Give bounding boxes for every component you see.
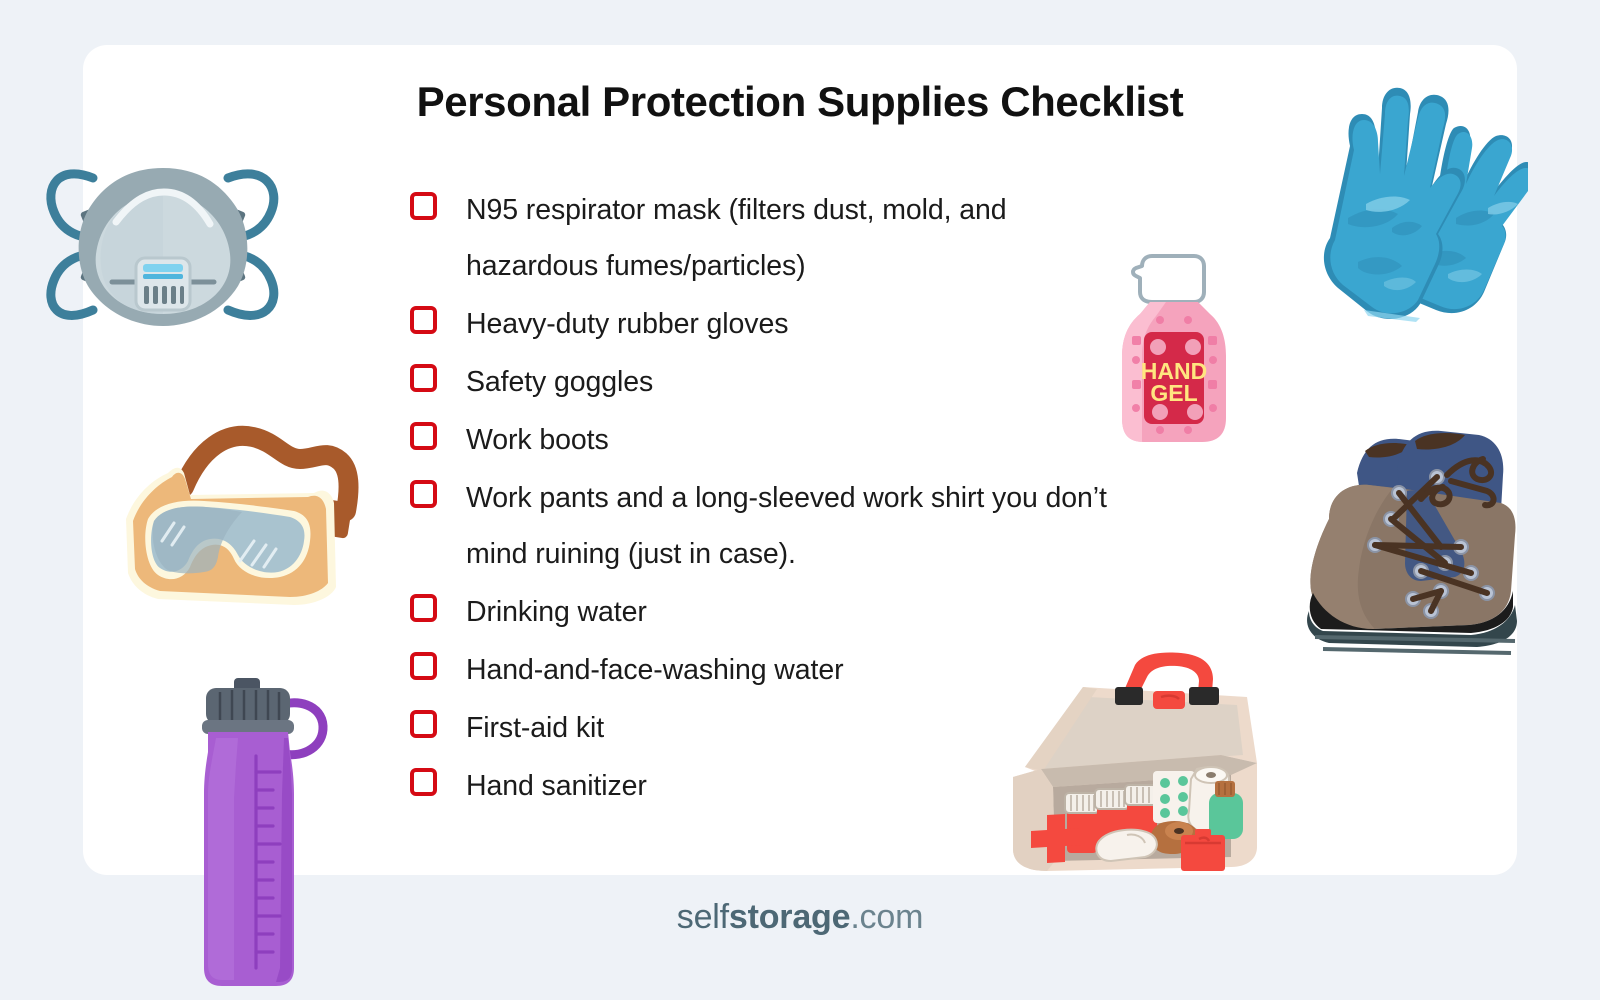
list-item[interactable]: Work pants and a long-sleeved work shirt… xyxy=(410,470,1130,582)
list-item-label: Drinking water xyxy=(466,584,647,640)
logo-part-storage: storage xyxy=(729,898,850,936)
logo-part-dotcom: .com xyxy=(850,898,923,936)
selfstorage-logo[interactable]: selfstorage.com xyxy=(0,898,1600,937)
checkbox-icon[interactable] xyxy=(410,480,437,508)
checkbox-icon[interactable] xyxy=(410,192,437,220)
checkbox-icon[interactable] xyxy=(410,422,437,450)
list-item[interactable]: Heavy-duty rubber gloves xyxy=(410,296,1130,352)
list-item-label: N95 respirator mask (filters dust, mold,… xyxy=(466,182,1130,294)
checkbox-icon[interactable] xyxy=(410,594,437,622)
infographic-page: Personal Protection Supplies Checklist N… xyxy=(0,0,1600,1000)
work-boot-illustration xyxy=(1265,415,1530,660)
list-item[interactable]: Drinking water xyxy=(410,584,1130,640)
water-bottle-illustration xyxy=(180,668,330,988)
checkbox-icon[interactable] xyxy=(410,652,437,680)
list-item[interactable]: N95 respirator mask (filters dust, mold,… xyxy=(410,182,1130,294)
safety-goggles-illustration xyxy=(118,415,368,620)
list-item-label: Hand-and-face-washing water xyxy=(466,642,844,698)
hand-gel-label-line2: GEL xyxy=(1150,380,1197,406)
first-aid-kit-illustration xyxy=(985,635,1270,875)
n95-mask-illustration xyxy=(38,140,288,350)
list-item-label: Work pants and a long-sleeved work shirt… xyxy=(466,470,1130,582)
list-item-label: Work boots xyxy=(466,412,609,468)
checkbox-icon[interactable] xyxy=(410,364,437,392)
list-item[interactable]: Safety goggles xyxy=(410,354,1130,410)
page-title: Personal Protection Supplies Checklist xyxy=(300,78,1300,126)
checkbox-icon[interactable] xyxy=(410,306,437,334)
list-item-label: First-aid kit xyxy=(466,700,604,756)
checkbox-icon[interactable] xyxy=(410,768,437,796)
list-item-label: Hand sanitizer xyxy=(466,758,647,814)
list-item-label: Heavy-duty rubber gloves xyxy=(466,296,788,352)
checkbox-icon[interactable] xyxy=(410,710,437,738)
logo-part-self: self xyxy=(677,898,729,936)
list-item[interactable]: Work boots xyxy=(410,412,1130,468)
rubber-gloves-illustration xyxy=(1288,78,1528,323)
hand-gel-bottle-illustration: HAND GEL xyxy=(1098,248,1243,448)
list-item-label: Safety goggles xyxy=(466,354,653,410)
